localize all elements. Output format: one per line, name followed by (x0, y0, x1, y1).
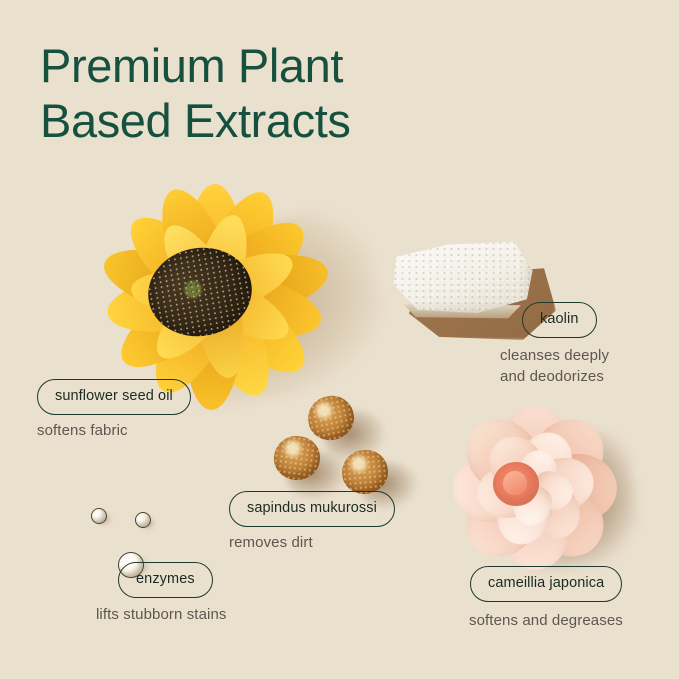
caption-cameillia-japonica: softens and degreases (469, 610, 659, 631)
ingredient-infographic: Premium Plant Based Extracts (0, 0, 679, 679)
camellia-flower-image (435, 402, 635, 574)
camellia-center (493, 462, 539, 506)
caption-enzymes: lifts stubborn stains (96, 604, 276, 625)
label-pill-sapindus-mukurossi[interactable]: sapindus mukurossi (229, 491, 395, 527)
page-title: Premium Plant Based Extracts (40, 38, 600, 149)
enzyme-bead (91, 508, 107, 524)
enzyme-bead (135, 512, 151, 528)
label-pill-cameillia-japonica[interactable]: cameillia japonica (470, 566, 622, 602)
page-title-line-2: Based Extracts (40, 93, 600, 148)
soap-nuts-image (272, 388, 412, 498)
label-pill-enzymes[interactable]: enzymes (118, 562, 213, 598)
caption-kaolin: cleanses deeply and deodorizes (500, 345, 650, 388)
caption-sunflower-seed-oil: softens fabric (37, 420, 237, 441)
label-pill-kaolin[interactable]: kaolin (522, 302, 597, 338)
label-pill-sunflower-seed-oil[interactable]: sunflower seed oil (37, 379, 191, 415)
sunflower-seed-head (141, 240, 259, 345)
page-title-line-1: Premium Plant (40, 38, 600, 93)
sunflower-image (60, 180, 370, 410)
caption-sapindus-mukurossi: removes dirt (229, 532, 399, 553)
